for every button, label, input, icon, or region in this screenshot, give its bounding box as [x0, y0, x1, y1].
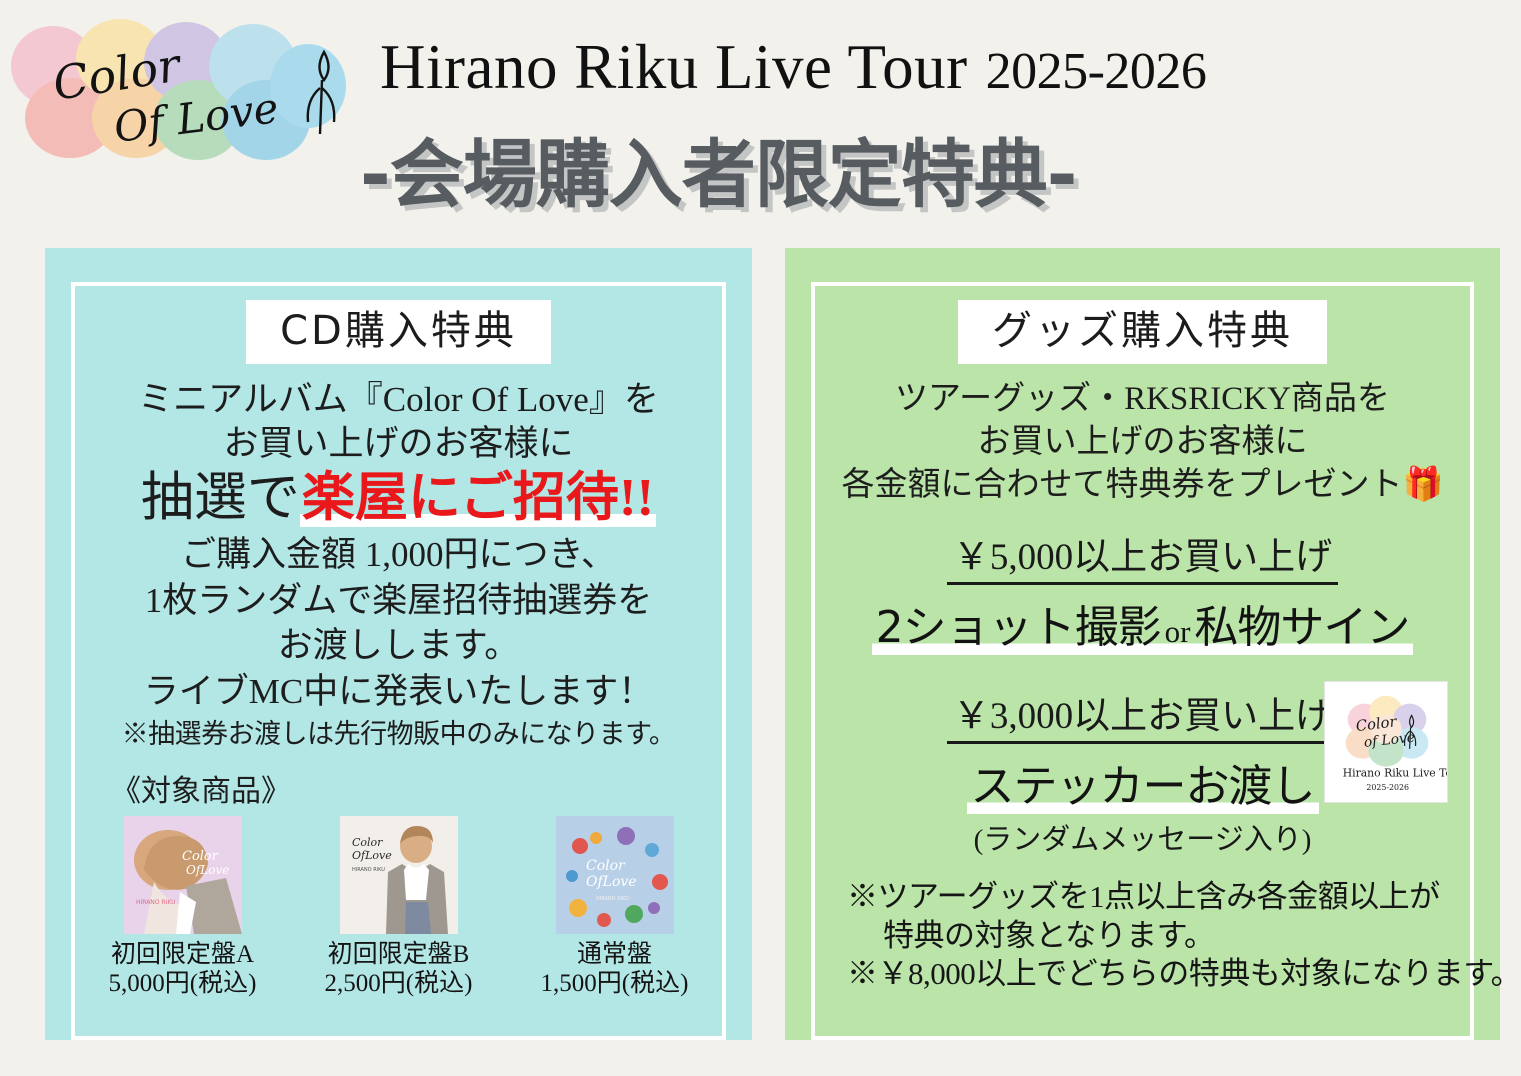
goods-panel-inner: グッズ購入特典 ツアーグッズ・RKSRICKY商品を お買い上げのお客様に 各金…	[811, 282, 1474, 1040]
svg-text:OfLove: OfLove	[352, 849, 392, 862]
svg-text:OfLove: OfLove	[586, 874, 637, 890]
goods-note-2: ※￥8,000以上でどちらの特典も対象になります。	[847, 955, 1456, 993]
cd-benefit-panel: CD購入特典 ミニアルバム『Color Of Love』を お買い上げのお客様に…	[45, 248, 752, 1040]
tour-years: 2025-2026	[986, 43, 1207, 100]
cd-detail-line-3: お渡しします。	[278, 624, 520, 668]
svg-text:OfLove: OfLove	[186, 863, 229, 877]
svg-text:Color: Color	[586, 858, 626, 874]
tier-3000-sub: (ランダムメッセージ入り)	[974, 816, 1312, 858]
cd-detail-line-4: ライブMC中に発表いたします！	[144, 670, 653, 714]
tier-5000-benefit: 2ショット撮影or私物サイン	[872, 591, 1414, 655]
cd-highlight-red: 楽屋にご招待!!	[300, 469, 656, 527]
list-item: Color OfLove HIRANO RIKU 初回限定盤B 2,500円(税…	[319, 816, 479, 998]
product-price: 2,500円(税込)	[325, 969, 473, 998]
svg-text:HIRANO RIKU: HIRANO RIKU	[352, 867, 385, 873]
goods-notes: ※ツアーグッズを1点以上含み各金額以上が 特典の対象となります。 ※￥8,000…	[829, 878, 1456, 993]
svg-text:Color: Color	[182, 849, 219, 864]
goods-lead-text: 各金額に合わせて特典券をプレゼント	[841, 467, 1402, 503]
tier-5000-amount: ￥5,000以上お買い上げ	[947, 526, 1338, 585]
product-name: 初回限定盤A	[109, 940, 257, 969]
goods-benefit-panel: グッズ購入特典 ツアーグッズ・RKSRICKY商品を お買い上げのお客様に 各金…	[785, 248, 1500, 1040]
list-item: Color OfLove HIRANO RIKU 初回限定盤A 5,000円(税…	[103, 816, 263, 998]
list-item-label: 初回限定盤B 2,500円(税込)	[325, 940, 473, 998]
color-of-love-logo: Color Of Love	[8, 14, 368, 164]
tier-3000-amount: ￥3,000以上お買い上げ	[947, 685, 1338, 744]
svg-text:Color: Color	[352, 836, 383, 849]
sticker-preview-image: Color of Love Hirano Riku Live Tour 2025…	[1324, 681, 1448, 803]
tier-5000-benefit-a: 2ショット撮影	[876, 602, 1161, 653]
page-title: Hirano Riku Live Tour2025-2026	[380, 36, 1206, 99]
list-item-label: 初回限定盤A 5,000円(税込)	[109, 940, 257, 998]
album-art-regular: Color OfLove HIRANO RIKU	[556, 816, 674, 934]
tier-5000-benefit-b: 私物サイン	[1194, 602, 1409, 653]
svg-text:HIRANO RIKU: HIRANO RIKU	[596, 896, 629, 902]
poster-header: Color Of Love Hirano Riku Live Tour2025-…	[0, 0, 1521, 240]
goods-lead-line-2: お買い上げのお客様に	[978, 421, 1308, 463]
cd-section-chip: CD購入特典	[246, 300, 551, 364]
goods-lead-line-3: 各金額に合わせて特典券をプレゼント🎁	[841, 463, 1443, 506]
tier-3000-benefit: ステッカーお渡し	[967, 750, 1319, 814]
list-item-label: 通常盤 1,500円(税込)	[541, 940, 689, 998]
subtitle: -会場購入者限定特典-	[360, 138, 1076, 212]
product-price: 5,000円(税込)	[109, 969, 257, 998]
cd-panel-inner: CD購入特典 ミニアルバム『Color Of Love』を お買い上げのお客様に…	[71, 282, 726, 1040]
album-art-limited-a: Color OfLove HIRANO RIKU	[124, 816, 242, 934]
list-item: Color OfLove HIRANO RIKU 通常盤 1,500円(税込)	[535, 816, 695, 998]
goods-note-1-line-1: ※ツアーグッズを1点以上含み各金額以上が	[847, 878, 1456, 916]
sticker-years: 2025-2026	[1366, 783, 1409, 792]
product-price: 1,500円(税込)	[541, 969, 689, 998]
cd-highlight: 抽選で楽屋にご招待!!	[141, 469, 656, 527]
gift-icon: 🎁	[1402, 464, 1443, 503]
goods-lead-line-1: ツアーグッズ・RKSRICKY商品を	[895, 378, 1390, 420]
svg-text:HIRANO RIKU: HIRANO RIKU	[136, 899, 176, 906]
goods-section-chip: グッズ購入特典	[958, 300, 1327, 364]
cd-note: ※抽選券お渡しは先行物販中のみになります。	[122, 718, 676, 750]
sticker-title: Hirano Riku Live Tour	[1343, 767, 1447, 780]
cd-product-list: Color OfLove HIRANO RIKU 初回限定盤A 5,000円(税…	[89, 816, 708, 998]
cd-detail-line-2: 1枚ランダムで楽屋招待抽選券を	[145, 579, 653, 623]
cd-highlight-prefix: 抽選で	[141, 469, 300, 527]
product-name: 初回限定盤B	[325, 940, 473, 969]
tier-3000-wrapper: ￥3,000以上お買い上げ ステッカーお渡し (ランダムメッセージ入り)	[829, 685, 1456, 858]
cd-detail-line-1: ご購入金額 1,000円につき、	[181, 533, 616, 577]
product-name: 通常盤	[541, 940, 689, 969]
cd-lead-line-2: お買い上げのお客様に	[223, 422, 573, 466]
tour-title-text: Hirano Riku Live Tour	[380, 32, 968, 102]
album-art-limited-b: Color OfLove HIRANO RIKU	[340, 816, 458, 934]
target-products-label: 《対象商品》	[111, 766, 291, 810]
tier-5000: ￥5,000以上お買い上げ 2ショット撮影or私物サイン	[829, 526, 1456, 655]
cd-lead-line-1: ミニアルバム『Color Of Love』を	[138, 378, 659, 422]
goods-note-1-line-2: 特典の対象となります。	[847, 917, 1456, 955]
tier-5000-or: or	[1161, 614, 1195, 649]
